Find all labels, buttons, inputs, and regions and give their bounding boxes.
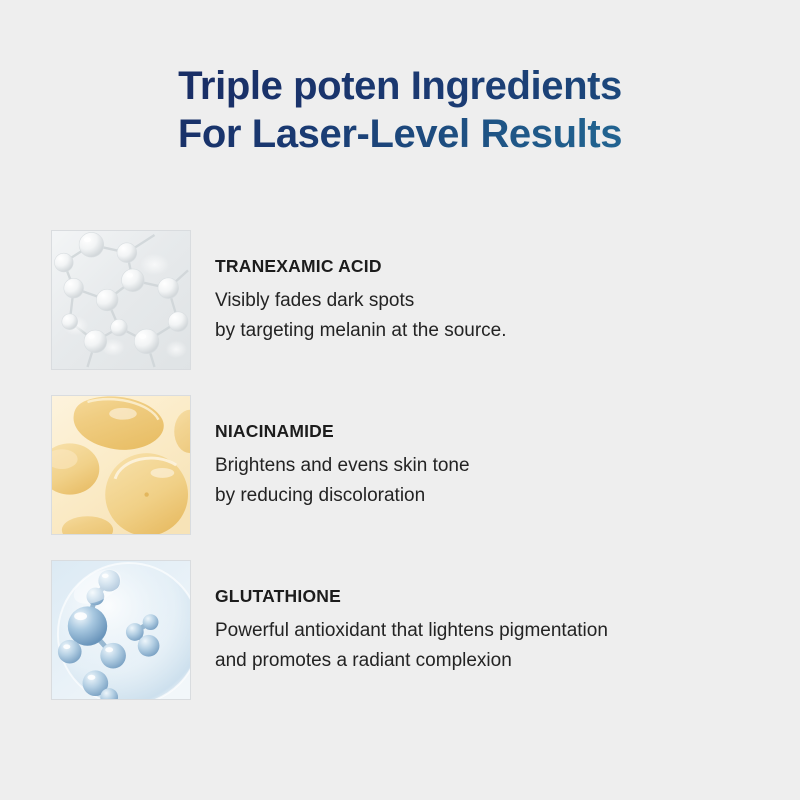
- ingredient-copy-glutathione: GLUTATHIONE Powerful antioxidant that li…: [191, 585, 771, 676]
- ingredient-image-glutathione: [51, 560, 191, 700]
- ingredient-row-tranexamic-acid: TRANEXAMIC ACID Visibly fades dark spots…: [51, 230, 771, 370]
- ingredient-name: NIACINAMIDE: [215, 420, 771, 442]
- ingredient-copy-niacinamide: NIACINAMIDE Brightens and evens skin ton…: [191, 420, 771, 511]
- ingredient-description-line-2: and promotes a radiant complexion: [215, 646, 771, 676]
- ingredient-description-line-1: Visibly fades dark spots: [215, 286, 771, 316]
- page-headline: Triple poten Ingredients For Laser-Level…: [0, 62, 800, 158]
- ingredient-image-tranexamic-acid: [51, 230, 191, 370]
- blue-molecule-sphere-icon: [52, 561, 190, 699]
- ingredient-description-line-1: Brightens and evens skin tone: [215, 451, 771, 481]
- ingredient-name: TRANEXAMIC ACID: [215, 255, 771, 277]
- amber-serum-droplets-icon: [52, 396, 190, 534]
- ingredient-row-niacinamide: NIACINAMIDE Brightens and evens skin ton…: [51, 395, 771, 535]
- ingredient-row-glutathione: GLUTATHIONE Powerful antioxidant that li…: [51, 560, 771, 700]
- ingredient-list: TRANEXAMIC ACID Visibly fades dark spots…: [51, 230, 771, 725]
- ingredient-name: GLUTATHIONE: [215, 585, 771, 607]
- ingredient-copy-tranexamic-acid: TRANEXAMIC ACID Visibly fades dark spots…: [191, 255, 771, 346]
- ingredient-description-line-2: by targeting melanin at the source.: [215, 316, 771, 346]
- molecular-lattice-white-icon: [52, 231, 190, 369]
- headline-line-2: For Laser-Level Results: [0, 110, 800, 158]
- headline-line-1: Triple poten Ingredients: [0, 62, 800, 110]
- ingredient-description-line-2: by reducing discoloration: [215, 481, 771, 511]
- ingredient-image-niacinamide: [51, 395, 191, 535]
- ingredient-description-line-1: Powerful antioxidant that lightens pigme…: [215, 616, 771, 646]
